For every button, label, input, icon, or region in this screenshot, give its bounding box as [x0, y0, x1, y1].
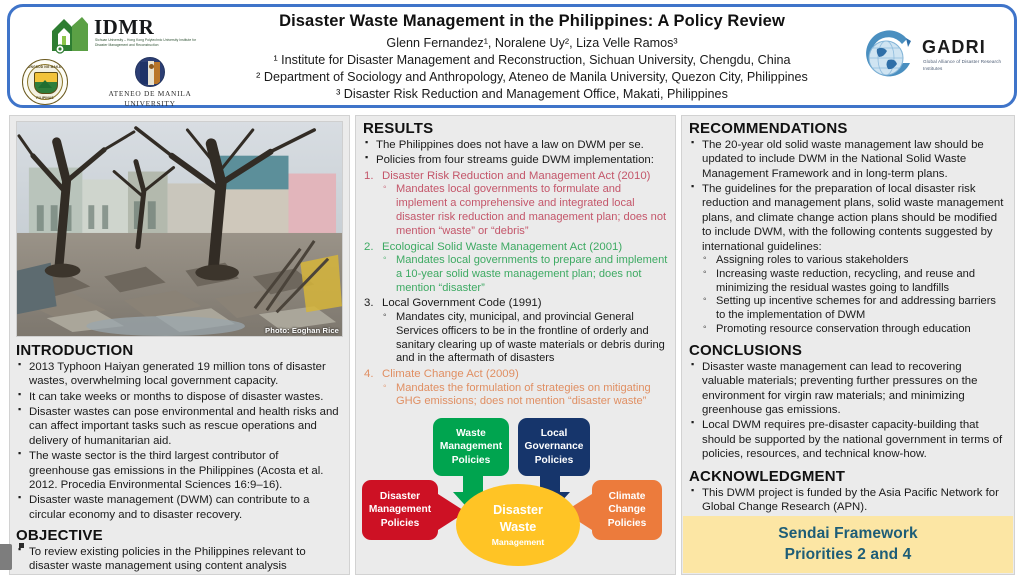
gadri-acronym: GADRI — [922, 37, 986, 58]
sendai-line1: Sendai Framework — [778, 524, 917, 544]
conclusions-heading: CONCLUSIONS — [689, 342, 1006, 359]
recommendation-2-text: The guidelines for the preparation of lo… — [702, 183, 1003, 252]
policy-stream-3-number: 3. — [364, 296, 374, 310]
list-item: This DWM project is funded by the Asia P… — [689, 486, 1006, 515]
diagram-box-climate-change: Climate Change Policies — [592, 480, 662, 540]
policy-stream-2-number: 2. — [364, 240, 374, 254]
policy-stream-2-title: Ecological Solid Waste Management Act (2… — [382, 241, 622, 253]
recommendations-list: The 20-year old solid waste management l… — [689, 138, 1006, 337]
left-column: Photo: Eoghan Rice INTRODUCTION 2013 Typ… — [9, 115, 350, 575]
gadri-logo: GADRI Global Alliance of Disaster Resear… — [860, 25, 1010, 95]
left-column-text: INTRODUCTION 2013 Typhoon Haiyan generat… — [10, 337, 349, 574]
results-intro-list: The Philippines does not have a law on D… — [363, 138, 668, 168]
page-title: Disaster Waste Management in the Philipp… — [210, 12, 854, 31]
recommendations-heading: RECOMMENDATIONS — [689, 120, 1006, 137]
right-column-text: RECOMMENDATIONS The 20-year old solid wa… — [682, 116, 1014, 514]
recommendation-2-subpoints: Assigning roles to various stakeholders … — [702, 254, 1006, 337]
list-item: It can take weeks or months to dispose o… — [16, 390, 341, 404]
diagram-center-line2: Waste — [500, 519, 537, 536]
affiliation-2: ² Department of Sociology and Anthropolo… — [210, 69, 854, 86]
gadri-globe-icon — [860, 29, 918, 87]
ateneo-name-label: ATENEO DE MANILA UNIVERSITY — [92, 89, 208, 108]
diagram-center-node: Disaster Waste Management — [456, 484, 580, 566]
ateneo-seal-icon — [135, 57, 165, 87]
poster-body: Photo: Eoghan Rice INTRODUCTION 2013 Typ… — [0, 113, 1024, 577]
conclusions-list: Disaster waste management can lead to re… — [689, 360, 1006, 462]
list-item: Promoting resource conservation through … — [702, 323, 1006, 337]
makati-seal-bottom-text: PILIPINAS — [23, 96, 67, 100]
affiliation-3: ³ Disaster Risk Reduction and Management… — [210, 86, 854, 103]
introduction-heading: INTRODUCTION — [16, 342, 341, 359]
list-item: 2013 Typhoon Haiyan generated 19 million… — [16, 360, 341, 389]
policy-stream-3-subpoints: Mandates city, municipal, and provincial… — [382, 311, 668, 366]
diagram-center-line3: Management — [492, 536, 545, 549]
list-item: Setting up incentive schemes for and add… — [702, 295, 1006, 323]
policy-stream-2-subpoints: Mandates local governments to prepare an… — [382, 254, 668, 296]
list-item: Policies from four streams guide DWM imp… — [363, 153, 668, 167]
photo-illustration — [17, 122, 342, 336]
list-item: Disaster wastes can pose environmental a… — [16, 405, 341, 448]
objective-list: To review existing policies in the Phili… — [16, 545, 341, 574]
list-item: The waste sector is the third largest co… — [16, 449, 341, 492]
policy-stream-4: 4. Climate Change Act (2009) Mandates th… — [363, 367, 668, 409]
diagram-box-local-governance: Local Governance Policies — [518, 418, 590, 476]
policy-stream-4-number: 4. — [364, 367, 374, 381]
list-item: Mandates local governments to formulate … — [382, 183, 668, 238]
typhoon-damage-photo: Photo: Eoghan Rice — [16, 121, 343, 337]
dwm-policy-diagram: Disaster Waste Management Waste Manageme… — [360, 414, 671, 574]
list-item: To review existing policies in the Phili… — [16, 545, 341, 574]
list-item: Assigning roles to various stakeholders — [702, 254, 1006, 268]
gadri-subtitle: Global Alliance of Disaster Research Ins… — [923, 58, 1011, 72]
policy-stream-4-subpoints: Mandates the formulation of strategies o… — [382, 382, 668, 410]
list-item: Mandates city, municipal, and provincial… — [382, 311, 668, 366]
objective-heading: OBJECTIVE — [16, 527, 341, 544]
introduction-list: 2013 Typhoon Haiyan generated 19 million… — [16, 360, 341, 522]
diagram-center-line1: Disaster — [493, 502, 543, 519]
policy-stream-1-subpoints: Mandates local governments to formulate … — [382, 183, 668, 238]
policy-stream-1-title: Disaster Risk Reduction and Management A… — [382, 170, 650, 182]
list-item: Mandates local governments to prepare an… — [382, 254, 668, 296]
diagram-box-disaster-management: Disaster Management Policies — [362, 480, 438, 540]
idmr-logo: IDMR Sichuan University – Hong Kong Poly… — [48, 13, 208, 59]
list-item: Mandates the formulation of strategies o… — [382, 382, 668, 410]
idmr-mark-icon — [48, 14, 90, 54]
ateneo-logo: ATENEO DE MANILA UNIVERSITY — [92, 57, 208, 109]
list-item: The Philippines does not have a law on D… — [363, 138, 668, 152]
acknowledgment-heading: ACKNOWLEDGMENT — [689, 468, 1006, 485]
sendai-line2: Priorities 2 and 4 — [785, 545, 912, 565]
list-item: Disaster waste management can lead to re… — [689, 360, 1006, 417]
idmr-subtitle: Sichuan University – Hong Kong Polytechn… — [95, 38, 207, 48]
affiliation-1: ¹ Institute for Disaster Management and … — [210, 52, 854, 69]
results-section: RESULTS The Philippines does not have a … — [356, 116, 675, 409]
policy-stream-2: 2. Ecological Solid Waste Management Act… — [363, 240, 668, 296]
author-list: Glenn Fernandez¹, Noralene Uy², Liza Vel… — [210, 36, 854, 52]
left-edge-drag-handle[interactable] — [0, 544, 12, 570]
list-item: Increasing waste reduction, recycling, a… — [702, 268, 1006, 296]
middle-column: RESULTS The Philippines does not have a … — [355, 115, 676, 575]
header-title-block: Disaster Waste Management in the Philipp… — [210, 7, 854, 105]
policy-stream-3-title: Local Government Code (1991) — [382, 297, 542, 309]
list-item: The 20-year old solid waste management l… — [689, 138, 1006, 181]
header-left-logos: IDMR Sichuan University – Hong Kong Poly… — [10, 7, 210, 105]
sendai-framework-banner: Sendai Framework Priorities 2 and 4 — [683, 516, 1013, 573]
right-column: RECOMMENDATIONS The 20-year old solid wa… — [681, 115, 1015, 575]
photo-credit: Photo: Eoghan Rice — [265, 326, 339, 335]
policy-streams-list: 1. Disaster Risk Reduction and Managemen… — [363, 169, 668, 410]
list-item: Local DWM requires pre-disaster capacity… — [689, 418, 1006, 461]
idmr-acronym: IDMR — [94, 15, 154, 40]
makati-seal-logo: LUNGSOD NG MAKATI PILIPINAS — [22, 59, 68, 105]
left-edge-marker-icon — [19, 543, 24, 548]
diagram-box-waste-management: Waste Management Policies — [433, 418, 509, 476]
acknowledgment-list: This DWM project is funded by the Asia P… — [689, 486, 1006, 515]
poster-root: IDMR Sichuan University – Hong Kong Poly… — [0, 0, 1024, 577]
makati-seal-top-text: LUNGSOD NG MAKATI — [23, 65, 67, 69]
list-item: Disaster waste management (DWM) can cont… — [16, 493, 341, 522]
policy-stream-1-number: 1. — [364, 169, 374, 183]
header-right-logo: GADRI Global Alliance of Disaster Resear… — [854, 7, 1014, 105]
list-item: The guidelines for the preparation of lo… — [689, 182, 1006, 337]
policy-stream-4-title: Climate Change Act (2009) — [382, 368, 519, 380]
policy-stream-3: 3. Local Government Code (1991) Mandates… — [363, 296, 668, 366]
header-box: IDMR Sichuan University – Hong Kong Poly… — [7, 4, 1017, 108]
policy-stream-1: 1. Disaster Risk Reduction and Managemen… — [363, 169, 668, 239]
poster-header: IDMR Sichuan University – Hong Kong Poly… — [0, 0, 1024, 113]
results-heading: RESULTS — [363, 120, 668, 137]
